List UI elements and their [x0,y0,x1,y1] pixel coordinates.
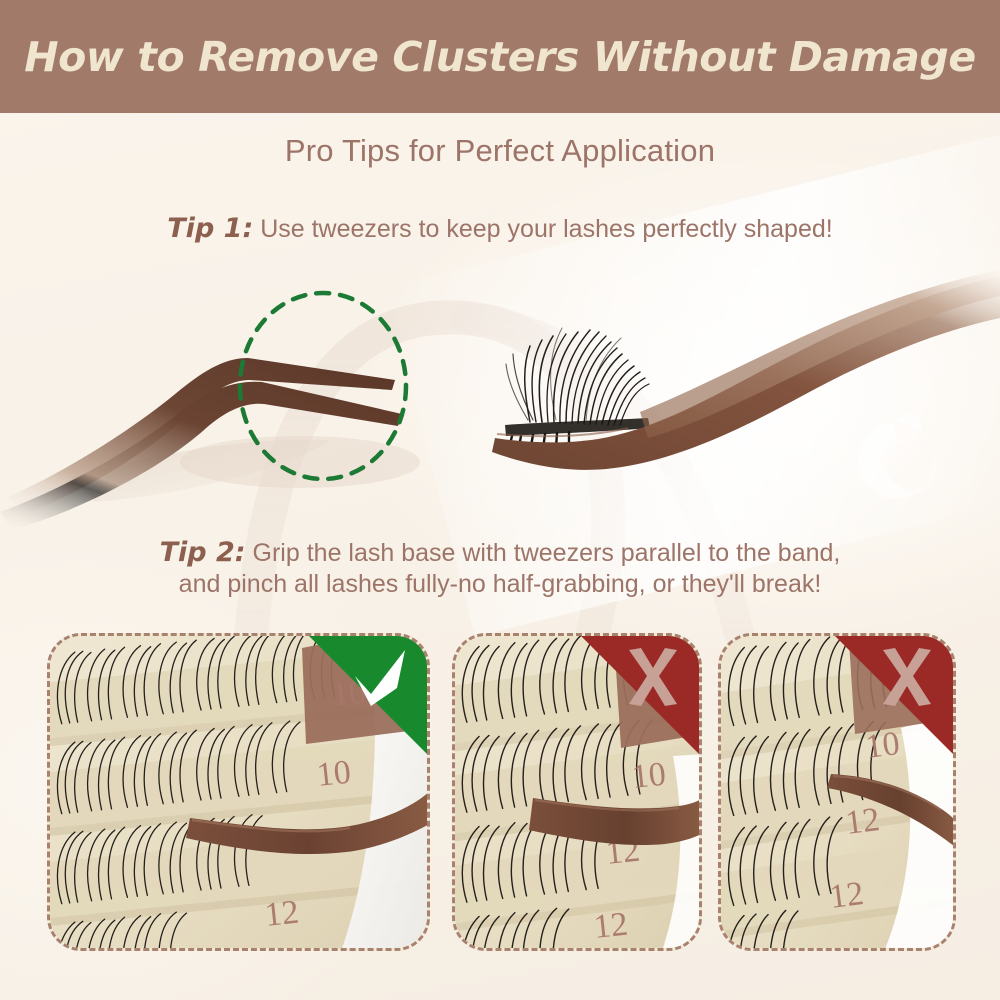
tray-label: 10 [630,756,668,796]
panel-wrong-2[interactable]: 10 12 12 [718,633,956,951]
page-title: How to Remove Clusters Without Damage [24,33,975,81]
panel-row: 10 10 12 [0,628,1000,958]
status-badge-wrong-1 [581,636,699,754]
check-icon [347,644,413,710]
status-badge-wrong-2 [835,636,953,754]
tip-1: Tip 1: Use tweezers to keep your lashes … [0,213,1000,245]
tip-1-body: Use tweezers to keep your lashes perfect… [253,215,832,243]
tray-label: 12 [263,894,301,934]
tip-2-label: Tip 2: [160,537,246,568]
status-badge-correct [309,636,427,754]
panel-wrong-1[interactable]: 10 12 12 [452,633,702,951]
cross-icon [619,644,685,710]
illustration-band [0,262,1000,527]
infographic-page: How to Remove Clusters Without Damage Pr… [0,0,1000,1000]
subtitle: Pro Tips for Perfect Application [0,133,1000,169]
cross-icon [873,644,939,710]
tray-label: 10 [315,754,353,794]
tray-label: 12 [827,875,865,916]
tray-label: 12 [592,906,630,946]
tray-label: 12 [843,801,881,842]
tip-2-body: Grip the lash base with tweezers paralle… [246,539,841,567]
panel-correct[interactable]: 10 10 12 [47,633,430,951]
tip-2: Tip 2: Grip the lash base with tweezers … [0,537,1000,600]
header-bar: How to Remove Clusters Without Damage [0,0,1000,113]
tip-1-label: Tip 1: [167,213,253,244]
tip-2-body-line2: and pinch all lashes fully-no half-grabb… [0,569,1000,600]
